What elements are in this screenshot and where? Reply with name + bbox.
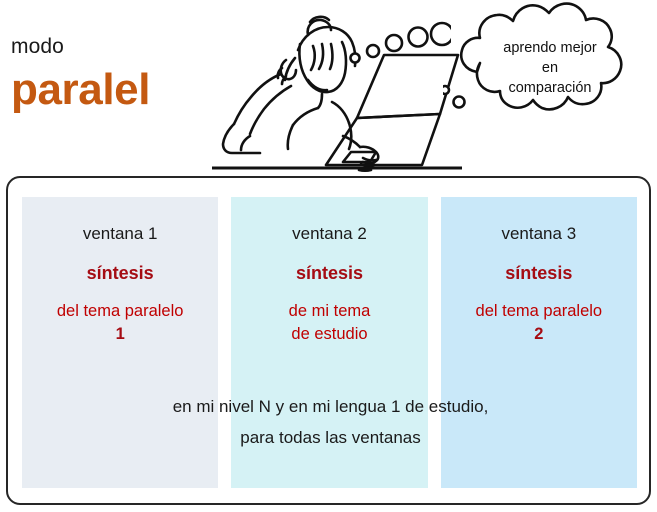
window-panel-3-title: ventana 3 — [441, 224, 637, 244]
window-panel-3-line-1: del tema paralelo — [441, 300, 637, 323]
thought-trail-dot-3 — [386, 35, 402, 51]
thought-trail-dot-5 — [431, 23, 451, 45]
thought-trail-dot-4 — [409, 28, 428, 47]
mode-label: modo — [11, 36, 64, 57]
thought-trail-dots — [347, 18, 451, 64]
window-panel-1-keyword: síntesis — [22, 263, 218, 283]
window-panel-1-line-1: del tema paralelo — [22, 300, 218, 323]
mode-value: paralel — [11, 68, 150, 112]
window-panel-3[interactable]: ventana 3 síntesis del tema paralelo 2 — [441, 197, 637, 488]
header: modo paralel — [0, 0, 657, 178]
thought-trail-dot-1 — [351, 54, 360, 63]
window-panel-3-line-2: 2 — [441, 323, 637, 346]
window-panel-1-line-2: 1 — [22, 323, 218, 346]
window-panel-2-title: ventana 2 — [231, 224, 427, 244]
window-panel-1-title: ventana 1 — [22, 224, 218, 244]
thought-trail-dot-2 — [367, 45, 379, 57]
window-panel-2[interactable]: ventana 2 síntesis de mi tema de estudio — [231, 197, 427, 488]
window-panel-2-line-1: de mi tema — [231, 300, 427, 323]
window-panel-2-line-2: de estudio — [231, 323, 427, 346]
windows-panels-row: ventana 1 síntesis del tema paralelo 1 v… — [22, 197, 637, 488]
window-panel-1[interactable]: ventana 1 síntesis del tema paralelo 1 — [22, 197, 218, 488]
window-panel-2-keyword: síntesis — [231, 263, 427, 283]
window-panel-3-keyword: síntesis — [441, 263, 637, 283]
thought-bubble: aprendo mejor en comparación — [443, 2, 657, 128]
windows-container: ventana 1 síntesis del tema paralelo 1 v… — [6, 176, 651, 505]
